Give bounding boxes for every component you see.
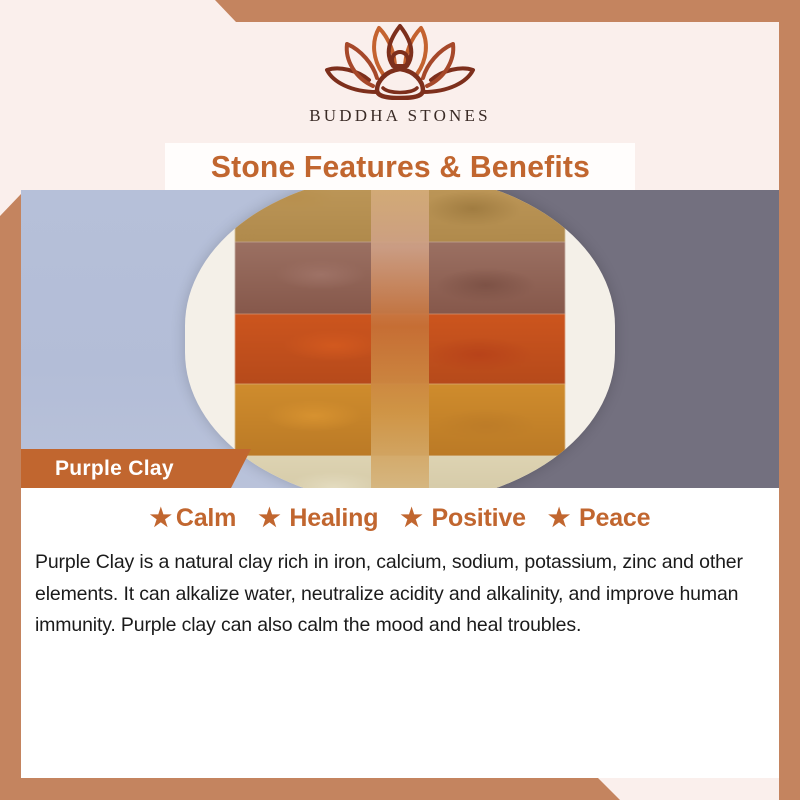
benefit-label: Peace — [579, 504, 650, 533]
brand-name: BUDDHA STONES — [309, 106, 491, 126]
product-feature-poster: BUDDHA STONES Stone Features & Benefits … — [0, 0, 800, 800]
product-photo — [21, 190, 779, 488]
benefit-label: Calm — [176, 504, 236, 533]
stone-name: Purple Clay — [55, 457, 174, 481]
star-icon: ★ — [548, 506, 570, 531]
brand-header: BUDDHA STONES — [0, 0, 800, 143]
star-icon: ★ — [258, 506, 280, 531]
product-description: Purple Clay is a natural clay rich in ir… — [35, 547, 765, 642]
clay-powder-bands — [235, 190, 565, 488]
benefit-tag-list: ★ Calm ★ Healing ★ Positive ★ Peace — [21, 488, 779, 533]
benefit-tag-calm: ★ Calm — [150, 504, 237, 533]
frame-border-left — [0, 194, 21, 800]
page-title: Stone Features & Benefits — [210, 149, 589, 185]
clay-plate — [185, 190, 615, 488]
benefit-label: Healing — [289, 504, 378, 533]
clay-center-stripe — [371, 190, 429, 488]
star-icon: ★ — [400, 506, 422, 531]
benefit-label: Positive — [432, 504, 526, 533]
description-panel: ★ Calm ★ Healing ★ Positive ★ Peace Purp… — [21, 488, 779, 778]
section-title-band: Stone Features & Benefits — [165, 143, 635, 190]
star-icon: ★ — [150, 506, 172, 531]
lotus-meditation-icon — [315, 22, 485, 100]
benefit-tag-healing: ★ Healing — [258, 504, 378, 533]
stone-name-banner: Purple Clay — [21, 449, 251, 488]
benefit-tag-peace: ★ Peace — [548, 504, 651, 533]
brand-logo: BUDDHA STONES — [309, 22, 491, 126]
benefit-tag-positive: ★ Positive — [400, 504, 526, 533]
frame-border-bottom — [0, 778, 800, 800]
